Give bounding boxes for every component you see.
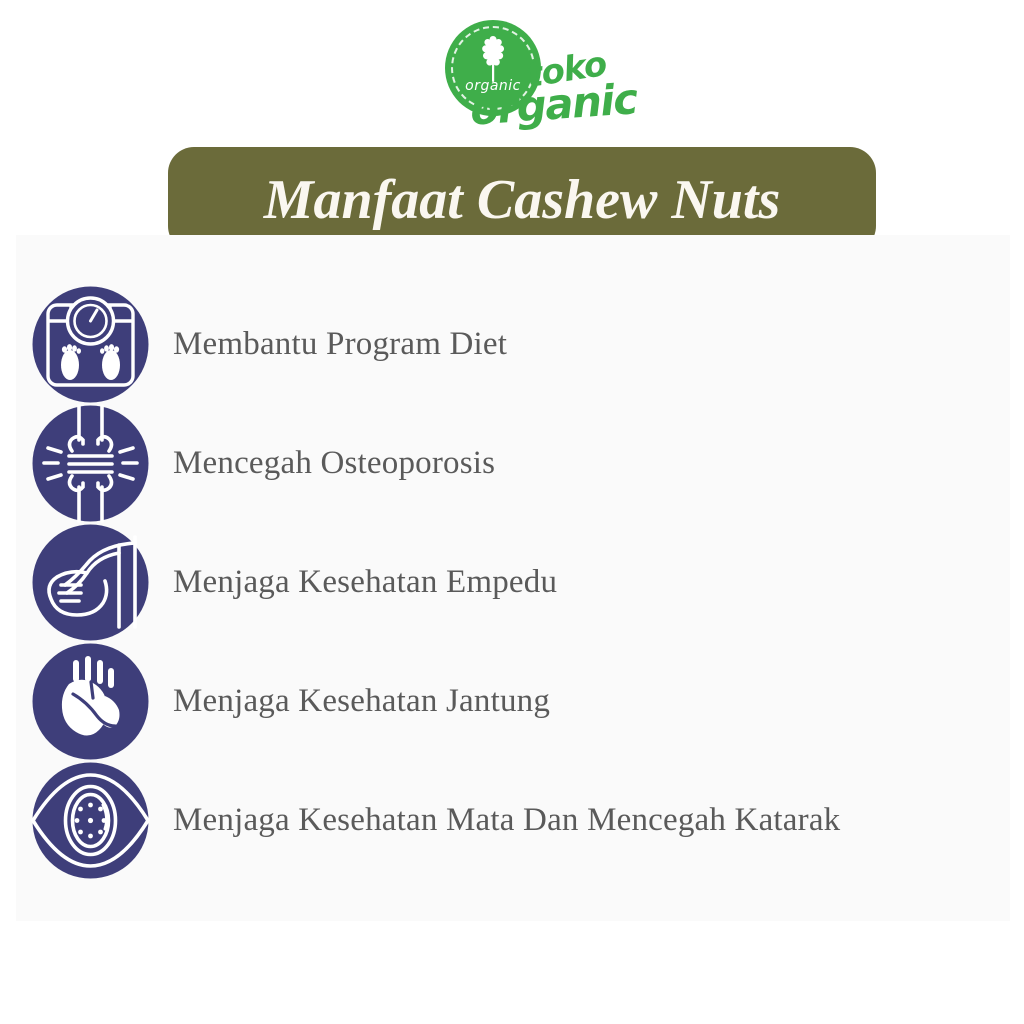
list-item-label: Menjaga Kesehatan Empedu [173, 564, 557, 601]
brand-logo: organic toko organic [440, 14, 620, 130]
list-item-label: Mencegah Osteoporosis [173, 445, 495, 482]
logo-word-organic: organic [468, 74, 638, 135]
heart-icon [31, 642, 150, 761]
eye-icon [31, 761, 150, 880]
page-title: Manfaat Cashew Nuts [264, 168, 781, 232]
oak-leaf-icon [471, 34, 515, 82]
list-item: Menjaga Kesehatan Jantung [16, 642, 1010, 761]
list-item-label: Menjaga Kesehatan Mata Dan Mencegah Kata… [173, 802, 840, 839]
list-item: Menjaga Kesehatan Empedu [16, 523, 1010, 642]
list-item: Mencegah Osteoporosis [16, 404, 1010, 523]
list-item-label: Menjaga Kesehatan Jantung [173, 683, 550, 720]
gallbladder-icon [31, 523, 150, 642]
weight-scale-icon [31, 285, 150, 404]
list-item: Menjaga Kesehatan Mata Dan Mencegah Kata… [16, 761, 1010, 880]
benefits-panel: Membantu Program Diet [16, 235, 1010, 921]
list-item-label: Membantu Program Diet [173, 326, 507, 363]
list-item: Membantu Program Diet [16, 285, 1010, 404]
bone-joint-icon [31, 404, 150, 523]
